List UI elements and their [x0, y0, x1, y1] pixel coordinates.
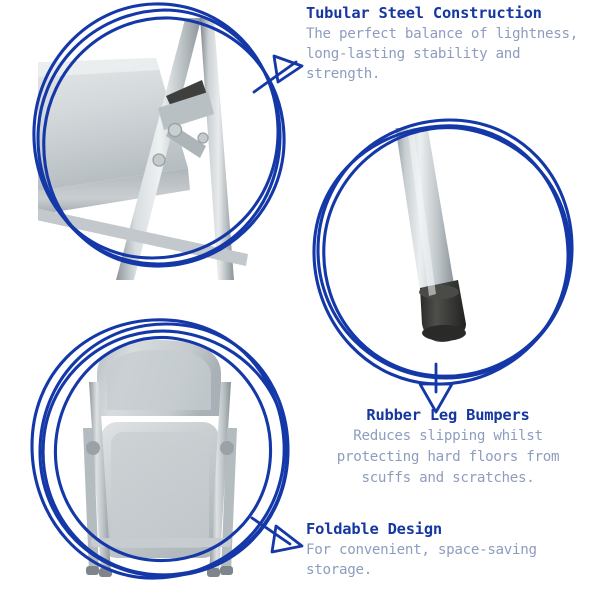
- hand-drawn-circle-tubular: [18, 0, 304, 288]
- product-feature-infographic: Tubular Steel Construction The perfect b…: [0, 0, 600, 600]
- feature-body-line: For convenient, space-saving: [306, 542, 537, 558]
- feature-body-line: scuffs and scratches.: [361, 470, 534, 486]
- feature-body-line: strength.: [306, 66, 380, 82]
- feature-block-bumpers: Rubber Leg Bumpers Reduces slipping whil…: [300, 406, 596, 489]
- arrow-right-icon-foldable: [250, 512, 314, 568]
- feature-body-line: protecting hard floors from: [337, 449, 560, 465]
- feature-body-tubular: The perfect balance of lightness, long-l…: [306, 24, 596, 84]
- feature-body-line: The perfect balance of lightness,: [306, 26, 578, 42]
- feature-body-line: storage.: [306, 562, 372, 578]
- arrow-right-icon-tubular: [252, 48, 314, 104]
- feature-body-bumpers: Reduces slipping whilst protecting hard …: [300, 426, 596, 489]
- feature-block-tubular: Tubular Steel Construction The perfect b…: [306, 4, 596, 84]
- feature-body-foldable: For convenient, space-saving storage.: [306, 540, 596, 580]
- feature-title-bumpers: Rubber Leg Bumpers: [300, 406, 596, 424]
- feature-block-foldable: Foldable Design For convenient, space-sa…: [306, 520, 596, 580]
- feature-title-tubular: Tubular Steel Construction: [306, 4, 596, 22]
- feature-body-line: Reduces slipping whilst: [353, 428, 543, 444]
- feature-body-line: long-lasting stability and: [306, 46, 520, 62]
- feature-title-foldable: Foldable Design: [306, 520, 596, 538]
- hand-drawn-circle-bumper: [300, 110, 592, 400]
